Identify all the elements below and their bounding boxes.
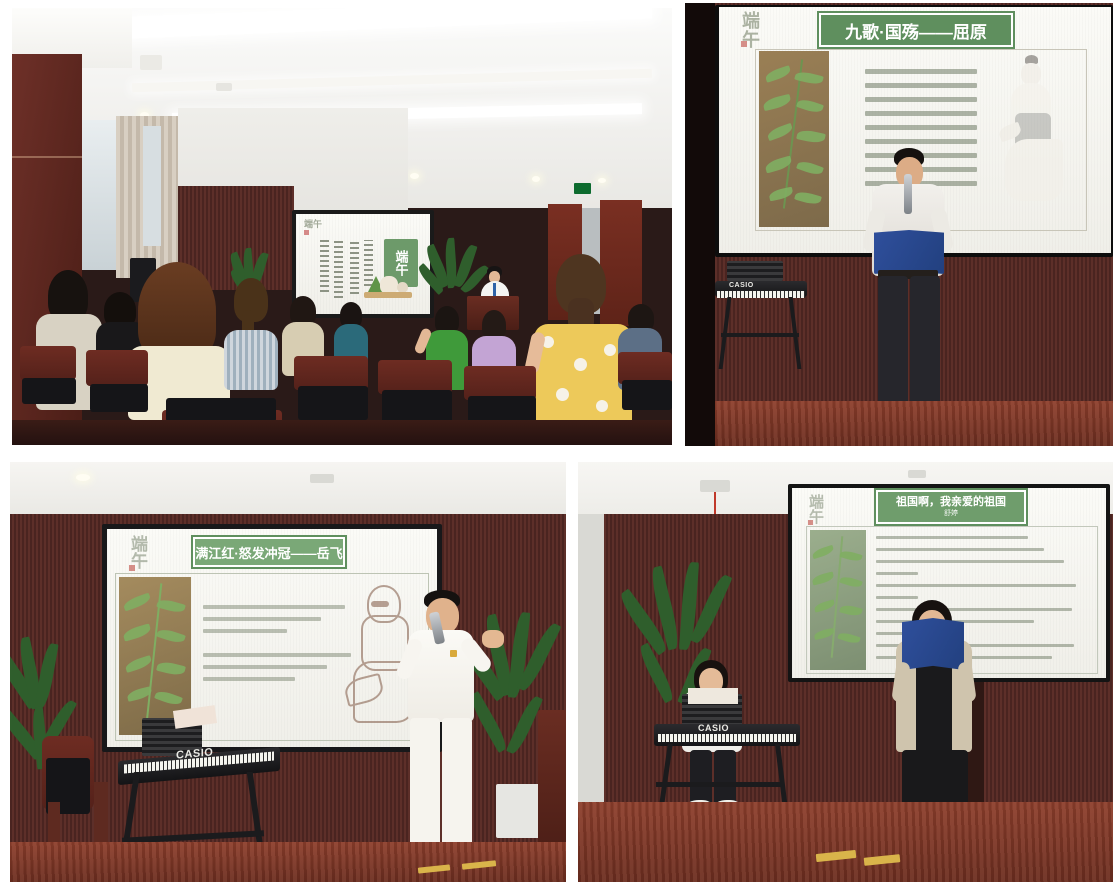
photo-panel-top-left: 端午 端午 bbox=[12, 8, 672, 445]
floor bbox=[715, 401, 1113, 446]
slide-title-band: 九歌·国殇——屈原 bbox=[819, 13, 1013, 47]
ceiling-vent bbox=[310, 474, 334, 483]
chair bbox=[294, 356, 368, 390]
slide-logo-dot bbox=[129, 565, 135, 571]
slide-vertical-text bbox=[334, 240, 343, 298]
floor bbox=[578, 802, 1113, 882]
slide-vertical-text bbox=[350, 240, 359, 294]
open-hand bbox=[482, 630, 504, 648]
slide-subtitle: 舒婷 bbox=[944, 510, 958, 519]
singer-male bbox=[384, 590, 514, 874]
photo-collage: 端午 端午 bbox=[0, 0, 1113, 886]
chair-seat bbox=[166, 398, 276, 422]
slide-logo-dot bbox=[741, 41, 747, 47]
chair bbox=[86, 350, 148, 386]
audience-member bbox=[224, 278, 278, 390]
chair-seat bbox=[622, 380, 672, 410]
photo-panel-bottom-left: 端午 满江红·怒发冲冠——岳飞 bbox=[10, 462, 566, 882]
chair-seat bbox=[382, 390, 452, 424]
slide-title-band: 满江红·怒发冲冠——岳飞 bbox=[193, 537, 345, 567]
microphone bbox=[904, 174, 912, 214]
chair-seat bbox=[298, 386, 368, 420]
downlight bbox=[598, 178, 606, 183]
wall-edge-dark bbox=[685, 3, 715, 446]
slide-title: 祖国啊，我亲爱的祖国 bbox=[896, 496, 1006, 510]
ceiling-vent bbox=[908, 470, 926, 478]
projector bbox=[700, 480, 730, 492]
slide-title: 满江红·怒发冲冠——岳飞 bbox=[195, 543, 342, 562]
photo-panel-bottom-right: 端午 祖国啊，我亲爱的祖国 舒婷 bbox=[578, 462, 1113, 882]
foreground-shadow bbox=[12, 420, 672, 445]
slide-logo-text: 端午 bbox=[128, 535, 147, 569]
slide-logo: 端午 bbox=[304, 220, 322, 235]
slide-title: 九歌·国殇——屈原 bbox=[845, 18, 987, 43]
chair-seat bbox=[22, 378, 76, 404]
shirt-badge bbox=[450, 650, 457, 657]
leaf-photo bbox=[759, 51, 829, 227]
slide-title-band: 祖国啊，我亲爱的祖国 舒婷 bbox=[876, 490, 1026, 524]
chair bbox=[378, 360, 452, 394]
ceiling-vent bbox=[216, 83, 232, 91]
leaf-photo bbox=[810, 530, 866, 670]
keyboard-stand-brace bbox=[656, 782, 784, 787]
keyboard-brand: CASIO bbox=[698, 723, 729, 733]
projector-rod bbox=[714, 492, 716, 516]
slide-vertical-text bbox=[320, 240, 329, 292]
downlight bbox=[532, 176, 540, 182]
blue-folder[interactable] bbox=[902, 618, 964, 670]
keyboard-keys bbox=[658, 734, 796, 742]
exit-sign bbox=[574, 183, 591, 194]
chair bbox=[464, 366, 536, 400]
chair bbox=[20, 346, 76, 380]
podium bbox=[538, 710, 566, 858]
photo-panel-top-right: 端午 九歌·国殇——屈原 bbox=[685, 3, 1113, 446]
scholar-illustration bbox=[999, 55, 1069, 217]
wall-pillar bbox=[578, 514, 604, 824]
window bbox=[82, 120, 116, 270]
downlight bbox=[76, 474, 90, 481]
slide-vertical-text bbox=[364, 240, 373, 286]
slide-logo-text: 端午 bbox=[304, 219, 322, 229]
slide-logo-dot bbox=[304, 230, 309, 235]
slide-logo-dot bbox=[808, 520, 813, 525]
blue-folder[interactable] bbox=[874, 230, 944, 274]
reciter-male bbox=[860, 148, 956, 436]
ceiling-speaker bbox=[140, 55, 162, 70]
music-rest bbox=[727, 261, 783, 281]
keyboard-stand-brace bbox=[721, 333, 799, 337]
sheet-music bbox=[688, 688, 738, 704]
downlight bbox=[410, 173, 419, 179]
zongzi-tray bbox=[364, 292, 412, 298]
keyboard-brand: CASIO bbox=[729, 282, 754, 289]
chair-seat bbox=[90, 384, 148, 412]
wood-column-seam bbox=[12, 156, 82, 158]
window bbox=[143, 126, 161, 246]
slide-logo: 端午 bbox=[129, 535, 146, 569]
